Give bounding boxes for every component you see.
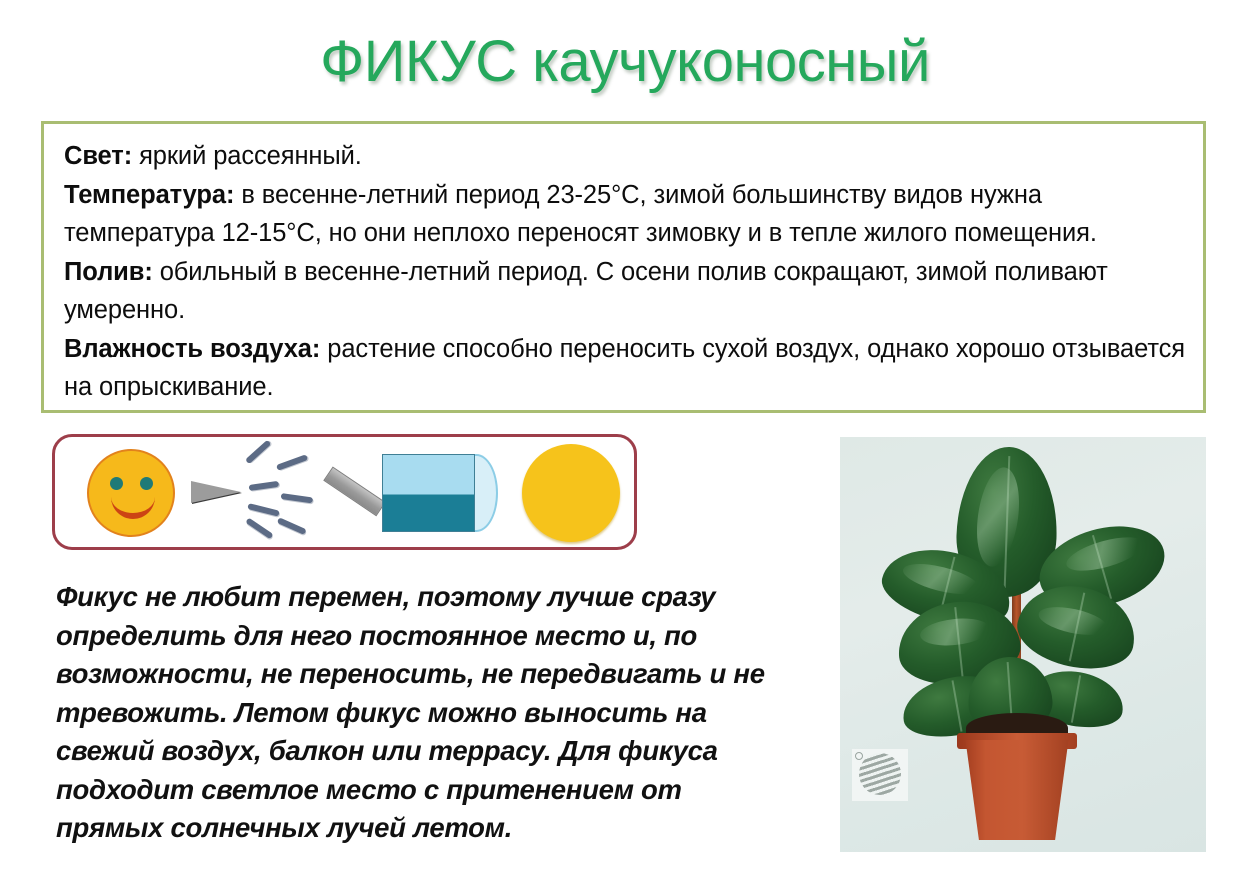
spray-ray (249, 481, 280, 491)
spray-ray (276, 454, 308, 471)
sun-circle-icon (510, 437, 634, 547)
smiley-eye-right (140, 477, 153, 490)
care-text-watering: обильный в весенне-летний период. С осен… (64, 258, 1108, 325)
care-line-watering: Полив: обильный в весенне-летний период.… (64, 253, 1187, 330)
care-line-temperature: Температура: в весенне-летний период 23-… (64, 176, 1187, 253)
care-info-box: Свет: яркий рассеянный. Температура: в в… (41, 121, 1206, 413)
care-label-light: Свет: (64, 142, 132, 170)
ficus-elastica-photo (840, 437, 1206, 852)
page-title: ФИКУС каучуконосный (0, 28, 1250, 95)
care-line-humidity: Влажность воздуха: растение способно пер… (64, 330, 1187, 407)
photo-watermark-dot (855, 752, 863, 760)
care-icon-strip (52, 434, 637, 550)
spray-ray (245, 518, 273, 540)
care-line-light: Свет: яркий рассеянный. (64, 137, 1187, 176)
care-label-watering: Полив: (64, 258, 153, 286)
care-text-light: яркий рассеянный. (132, 142, 362, 170)
smiley-mouth (111, 495, 155, 519)
watering-can-icon (320, 437, 510, 547)
photo-watermark (852, 749, 908, 801)
smiley-face-icon (73, 437, 181, 547)
watering-can-spout (323, 466, 386, 516)
care-label-humidity: Влажность воздуха: (64, 335, 320, 363)
spray-ray (277, 517, 307, 535)
photo-watermark-circle (859, 753, 901, 795)
spray-ray (281, 493, 314, 503)
smiley-face-circle (87, 449, 175, 537)
flower-pot (961, 740, 1073, 840)
spray-ray (247, 503, 280, 517)
spray-nozzle-icon (185, 437, 325, 547)
care-label-temperature: Температура: (64, 181, 234, 209)
care-note-paragraph: Фикус не любит перемен, поэтому лучше ср… (56, 578, 786, 848)
watering-can-body (382, 454, 475, 532)
smiley-eye-left (110, 477, 123, 490)
spray-ray (245, 440, 271, 465)
spray-nozzle-body (191, 481, 241, 503)
sun-circle-shape (522, 444, 620, 542)
